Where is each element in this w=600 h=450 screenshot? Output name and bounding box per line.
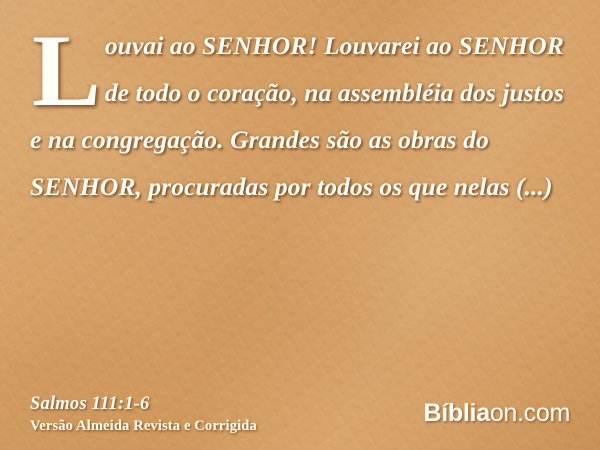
verse-text-block: Louvai ao SENHOR! Louvarei ao SENHOR de … bbox=[30, 22, 566, 210]
verse-reference: Salmos 111:1-6 bbox=[30, 395, 257, 414]
verse-body-text: ouvai ao SENHOR! Louvarei ao SENHOR de t… bbox=[30, 31, 564, 201]
card-footer: Salmos 111:1-6 Versão Almeida Revista e … bbox=[0, 378, 600, 450]
card-content: Louvai ao SENHOR! Louvarei ao SENHOR de … bbox=[0, 0, 600, 450]
verse-image-card: Louvai ao SENHOR! Louvarei ao SENHOR de … bbox=[0, 0, 600, 450]
footer-reference-group: Salmos 111:1-6 Versão Almeida Revista e … bbox=[30, 395, 257, 434]
verse-dropcap-letter: L bbox=[30, 22, 103, 110]
site-logo-strong: Bíblia bbox=[424, 399, 490, 427]
site-logo-light: on.com bbox=[490, 399, 570, 427]
site-logo: Bíbliaon.com bbox=[424, 401, 570, 428]
bible-version-label: Versão Almeida Revista e Corrigida bbox=[30, 419, 257, 434]
